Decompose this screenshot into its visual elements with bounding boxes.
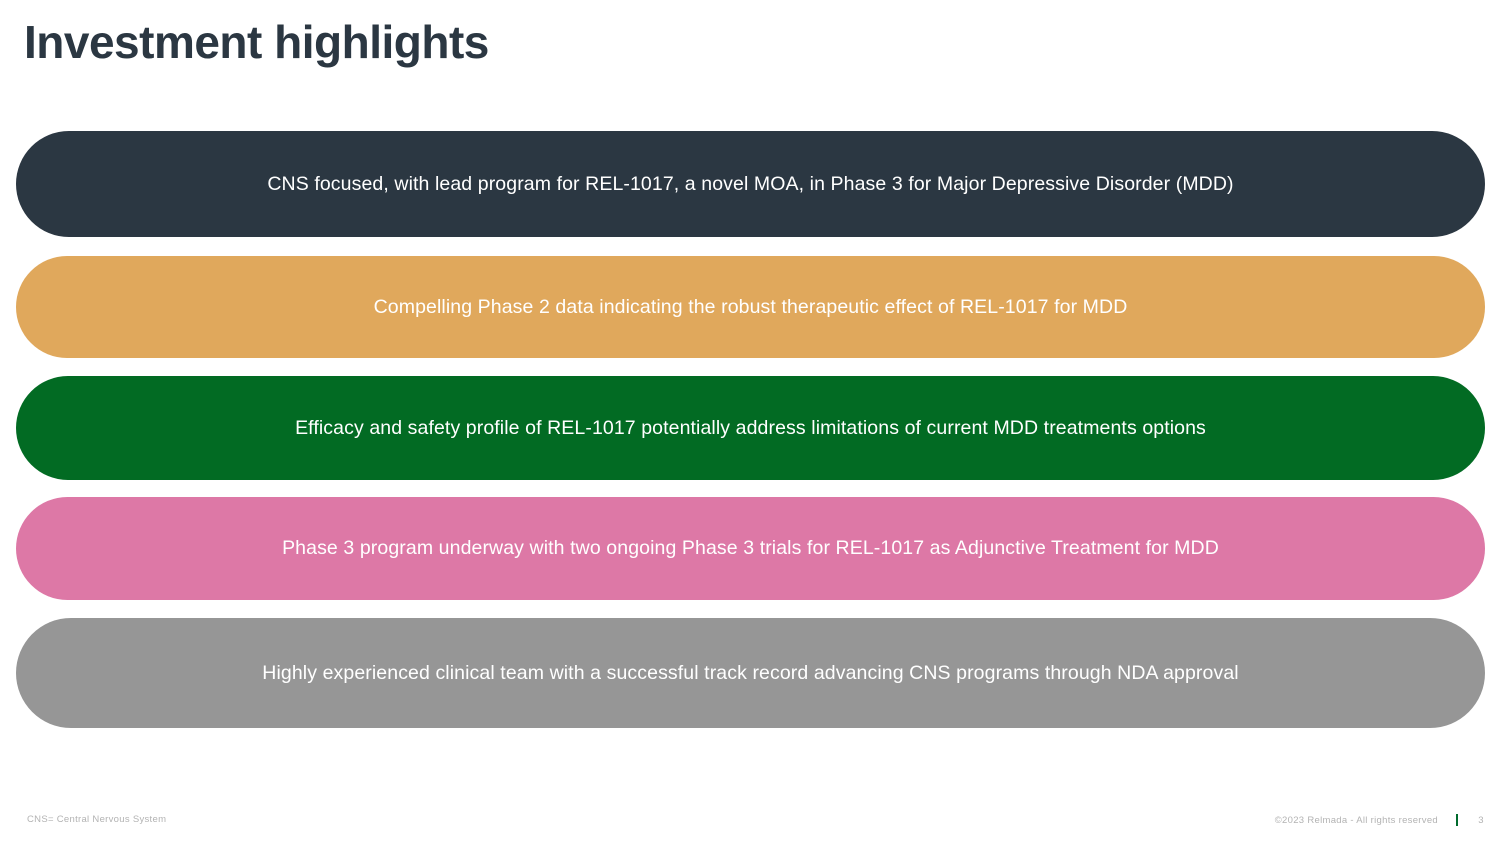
highlights-list: CNS focused, with lead program for REL-1… xyxy=(16,131,1485,728)
highlight-pill-phase-2-data: Compelling Phase 2 data indicating the r… xyxy=(16,256,1485,358)
highlight-pill-label: Efficacy and safety profile of REL-1017 … xyxy=(295,416,1206,440)
page-title: Investment highlights xyxy=(24,16,489,69)
page-number: 3 xyxy=(1474,815,1488,826)
highlight-pill-label: Highly experienced clinical team with a … xyxy=(262,661,1238,685)
footer-right-group: ©2023 Relmada - All rights reserved 3 xyxy=(1275,814,1488,826)
copyright-text: ©2023 Relmada - All rights reserved xyxy=(1275,815,1438,826)
highlight-pill-label: CNS focused, with lead program for REL-1… xyxy=(267,172,1233,196)
highlight-pill-label: Compelling Phase 2 data indicating the r… xyxy=(374,295,1128,319)
highlight-pill-cns-focus: CNS focused, with lead program for REL-1… xyxy=(16,131,1485,237)
divider-bar xyxy=(1456,814,1458,826)
highlight-pill-phase-3-program: Phase 3 program underway with two ongoin… xyxy=(16,497,1485,600)
footnote-abbreviation: CNS= Central Nervous System xyxy=(27,814,166,825)
highlight-pill-efficacy-safety: Efficacy and safety profile of REL-1017 … xyxy=(16,376,1485,480)
highlight-pill-label: Phase 3 program underway with two ongoin… xyxy=(282,536,1219,560)
slide-canvas: Investment highlights CNS focused, with … xyxy=(0,0,1502,843)
highlight-pill-clinical-team: Highly experienced clinical team with a … xyxy=(16,618,1485,728)
